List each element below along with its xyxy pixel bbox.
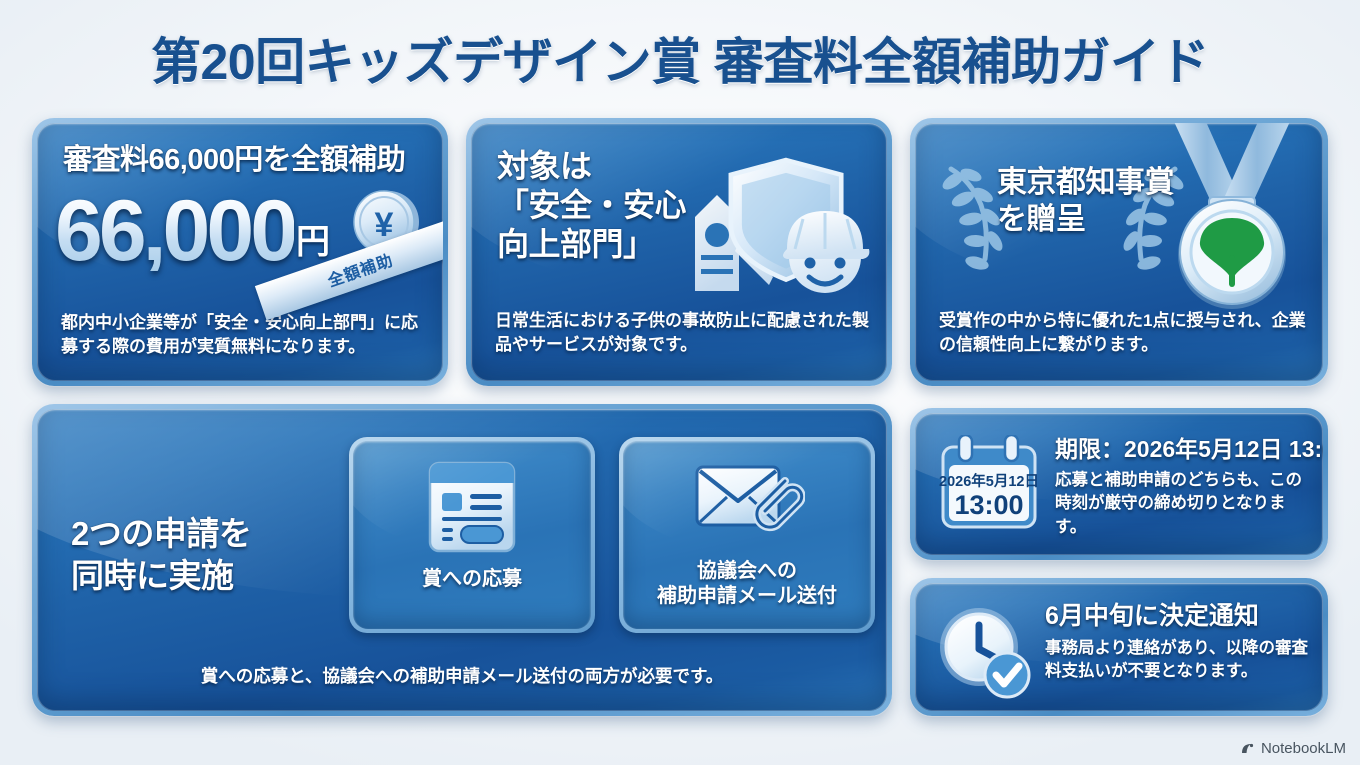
application-form-icon (420, 455, 524, 559)
subbox-subsidy-mail[interactable]: 協議会への 補助申請メール送付 (619, 437, 875, 633)
target-heading-line1: 対象は (497, 147, 686, 186)
calendar-time-text: 13:00 (954, 490, 1023, 520)
watermark-label: NotebookLM (1261, 740, 1346, 757)
card-deadline: 2026年5月12日 13:00 期限：2026年5月12日 13:00 応募と… (910, 408, 1328, 560)
watermark: NotebookLM (1240, 740, 1346, 757)
calendar-date-text: 2026年5月12日 (939, 472, 1039, 490)
card-subsidy-amount: 審査料66,000円を全額補助 66,000 円 ¥ 全額補助 都内中小企業等が… (32, 118, 448, 386)
subsidy-description: 都内中小企業等が「安全・安心向上部門」に応募する際の費用が実質無料になります。 (61, 311, 425, 359)
applications-footnote: 賞への応募と、協議会への補助申請メール送付の両方が必要です。 (37, 664, 887, 689)
mail-attachment-icon (689, 455, 805, 551)
clock-check-icon (937, 605, 1031, 699)
applications-heading: 2つの申請を 同時に実施 (71, 513, 251, 597)
deadline-description: 応募と補助申請のどちらも、この時刻が厳守の締め切りとなります。 (1055, 469, 1309, 539)
subsidy-amount-value: 66,000 (55, 192, 294, 271)
governor-heading-line1: 東京都知事賞 (997, 165, 1174, 202)
subbox-award-application[interactable]: 賞への応募 (349, 437, 595, 633)
deadline-title: 期限：2026年5月12日 13:00 (1055, 435, 1323, 463)
notice-title: 6月中旬に決定通知 (1045, 601, 1259, 632)
notice-description: 事務局より連絡があり、以降の審査料支払いが不要となります。 (1045, 637, 1309, 684)
card-target-category: 対象は 「安全・安心 向上部門」 (466, 118, 892, 386)
governor-heading: 東京都知事賞 を贈呈 (997, 165, 1174, 238)
card-governor-award: 東京都知事賞 を贈呈 (910, 118, 1328, 386)
page-title: 第20回キッズデザイン賞 審査料全額補助ガイド (0, 22, 1360, 94)
target-description: 日常生活における子供の事故防止に配慮された製品やサービスが対象です。 (495, 309, 869, 357)
subbox-award-application-label: 賞への応募 (422, 567, 522, 592)
subsidy-ribbon-label: 全額補助 (324, 247, 396, 292)
notebooklm-logo-icon (1240, 741, 1256, 757)
subsidy-currency-unit: 円 (296, 214, 330, 263)
governor-heading-line2: を贈呈 (997, 202, 1174, 239)
target-heading-line2: 「安全・安心 (497, 186, 686, 225)
subsidy-heading: 審査料66,000円を全額補助 (63, 143, 427, 178)
shield-playground-child-icon (665, 151, 877, 311)
subbox-subsidy-mail-label-line2: 補助申請メール送付 (657, 584, 837, 609)
target-heading: 対象は 「安全・安心 向上部門」 (497, 147, 686, 264)
calendar-icon: 2026年5月12日 13:00 (937, 435, 1041, 535)
subsidy-amount-group: 66,000 円 (55, 179, 330, 271)
subbox-subsidy-mail-label: 協議会への 補助申請メール送付 (657, 559, 837, 609)
target-heading-line3: 向上部門」 (497, 225, 686, 264)
applications-heading-line1: 2つの申請を (71, 513, 251, 555)
card-two-applications: 2つの申請を 同時に実施 (32, 404, 892, 716)
applications-heading-line2: 同時に実施 (71, 555, 251, 597)
subbox-subsidy-mail-label-line1: 協議会への (657, 559, 837, 584)
card-decision-notice: 6月中旬に決定通知 事務局より連絡があり、以降の審査料支払いが不要となります。 (910, 578, 1328, 716)
